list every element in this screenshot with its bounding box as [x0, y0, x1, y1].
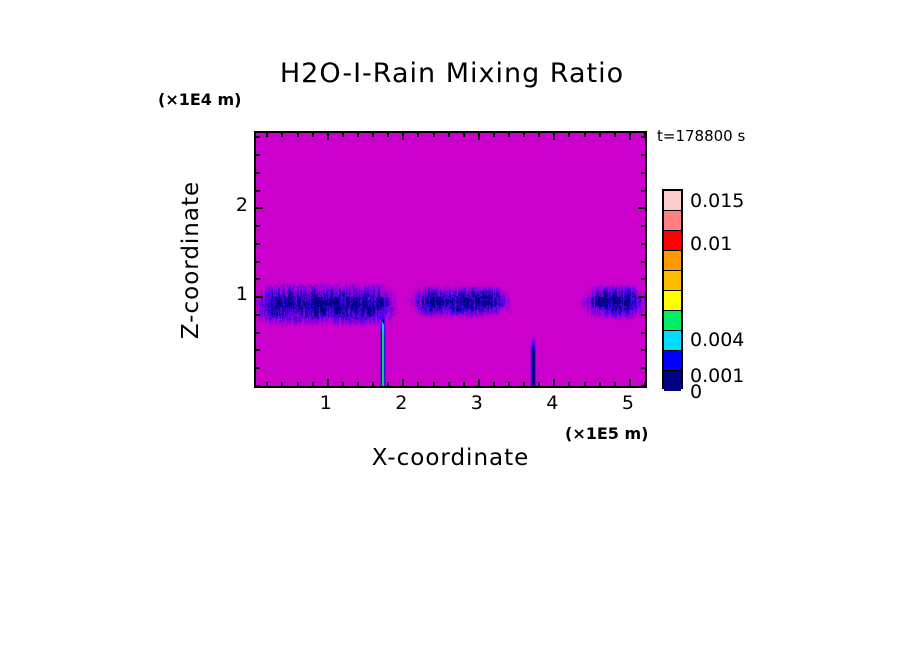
x-tick-minor [584, 133, 586, 137]
x-tick-minor [387, 133, 389, 137]
y-tick-minor [641, 349, 645, 351]
x-tick-minor [417, 382, 419, 386]
y-axis-unit-label: (×1E4 m) [158, 90, 241, 109]
x-tick-minor [281, 382, 283, 386]
x-tick-minor [297, 382, 299, 386]
x-tick-major [402, 133, 404, 140]
y-tick-major [638, 207, 645, 209]
x-tick-minor [372, 382, 374, 386]
y-tick-minor [641, 314, 645, 316]
x-tick-major [629, 133, 631, 140]
y-tick-label: 1 [218, 283, 248, 305]
colorbar-tick-label: 0.004 [690, 329, 744, 351]
x-tick-minor [493, 133, 495, 137]
y-tick-minor [641, 172, 645, 174]
x-tick-minor [297, 133, 299, 137]
colorbar-band [664, 191, 681, 211]
x-tick-minor [599, 382, 601, 386]
y-tick-minor [256, 385, 260, 387]
x-tick-minor [463, 382, 465, 386]
y-tick-minor [641, 225, 645, 227]
x-tick-major [553, 379, 555, 386]
x-tick-minor [433, 382, 435, 386]
x-tick-minor [523, 133, 525, 137]
x-tick-minor [568, 133, 570, 137]
x-tick-label: 3 [457, 392, 497, 414]
x-tick-major [402, 379, 404, 386]
y-tick-minor [256, 261, 260, 263]
colorbar-band [664, 311, 681, 331]
x-tick-minor [463, 133, 465, 137]
x-tick-minor [312, 133, 314, 137]
x-tick-major [478, 133, 480, 140]
x-tick-minor [433, 133, 435, 137]
y-tick-minor [256, 349, 260, 351]
y-tick-major [638, 296, 645, 298]
x-tick-minor [599, 133, 601, 137]
x-tick-minor [538, 133, 540, 137]
page-title: H2O-I-Rain Mixing Ratio [0, 58, 904, 89]
colorbar-band [664, 251, 681, 271]
y-tick-minor [641, 190, 645, 192]
x-tick-minor [342, 133, 344, 137]
x-tick-minor [614, 382, 616, 386]
x-tick-major [327, 379, 329, 386]
y-tick-minor [256, 172, 260, 174]
x-tick-minor [357, 133, 359, 137]
x-tick-minor [538, 382, 540, 386]
x-axis-title: X-coordinate [254, 445, 647, 471]
x-tick-major [629, 379, 631, 386]
x-tick-minor [266, 133, 268, 137]
y-tick-minor [256, 154, 260, 156]
y-tick-minor [641, 332, 645, 334]
colorbar-tick-label: 0.015 [690, 190, 744, 212]
x-tick-minor [448, 133, 450, 137]
colorbar-tick-label: 0.01 [690, 233, 732, 255]
x-tick-minor [372, 133, 374, 137]
x-tick-minor [508, 382, 510, 386]
y-tick-minor [641, 278, 645, 280]
x-tick-minor [312, 382, 314, 386]
x-tick-minor [342, 382, 344, 386]
x-tick-minor [508, 133, 510, 137]
figure-root: H2O-I-Rain Mixing Ratio (×1E4 m) (×1E5 m… [0, 0, 904, 654]
y-tick-minor [641, 385, 645, 387]
colorbar-tick-label: 0 [690, 381, 702, 403]
y-tick-major [256, 296, 263, 298]
colorbar-band [664, 351, 681, 371]
x-tick-minor [493, 382, 495, 386]
y-tick-minor [641, 261, 645, 263]
y-tick-major [256, 207, 263, 209]
plot-area [254, 131, 647, 388]
y-tick-minor [256, 367, 260, 369]
x-tick-major [327, 133, 329, 140]
x-tick-minor [584, 382, 586, 386]
x-tick-minor [281, 133, 283, 137]
y-tick-minor [256, 314, 260, 316]
x-tick-label: 2 [381, 392, 421, 414]
x-tick-minor [523, 382, 525, 386]
y-tick-minor [641, 243, 645, 245]
x-tick-major [553, 133, 555, 140]
colorbar-band [664, 271, 681, 291]
y-tick-minor [641, 154, 645, 156]
x-tick-minor [417, 133, 419, 137]
y-tick-minor [256, 278, 260, 280]
y-tick-minor [256, 332, 260, 334]
x-tick-minor [614, 133, 616, 137]
x-tick-label: 4 [532, 392, 572, 414]
x-axis-unit-label: (×1E5 m) [565, 424, 648, 443]
colorbar-band [664, 291, 681, 311]
y-axis-title: Z-coordinate [178, 150, 204, 370]
colorbar-band [664, 211, 681, 231]
x-tick-major [478, 379, 480, 386]
colorbar [662, 189, 683, 389]
y-tick-minor [256, 136, 260, 138]
y-tick-label: 2 [218, 194, 248, 216]
colorbar-band [664, 231, 681, 251]
y-tick-minor [641, 136, 645, 138]
y-tick-minor [256, 225, 260, 227]
y-tick-minor [256, 190, 260, 192]
time-annotation: t=178800 s [657, 127, 745, 145]
x-tick-minor [387, 382, 389, 386]
heatmap-canvas [256, 133, 645, 386]
x-tick-minor [568, 382, 570, 386]
y-tick-minor [641, 367, 645, 369]
x-tick-label: 5 [608, 392, 648, 414]
x-tick-minor [357, 382, 359, 386]
x-tick-label: 1 [306, 392, 346, 414]
x-tick-minor [448, 382, 450, 386]
y-tick-minor [256, 243, 260, 245]
colorbar-band [664, 371, 681, 391]
x-tick-minor [266, 382, 268, 386]
colorbar-band [664, 331, 681, 351]
